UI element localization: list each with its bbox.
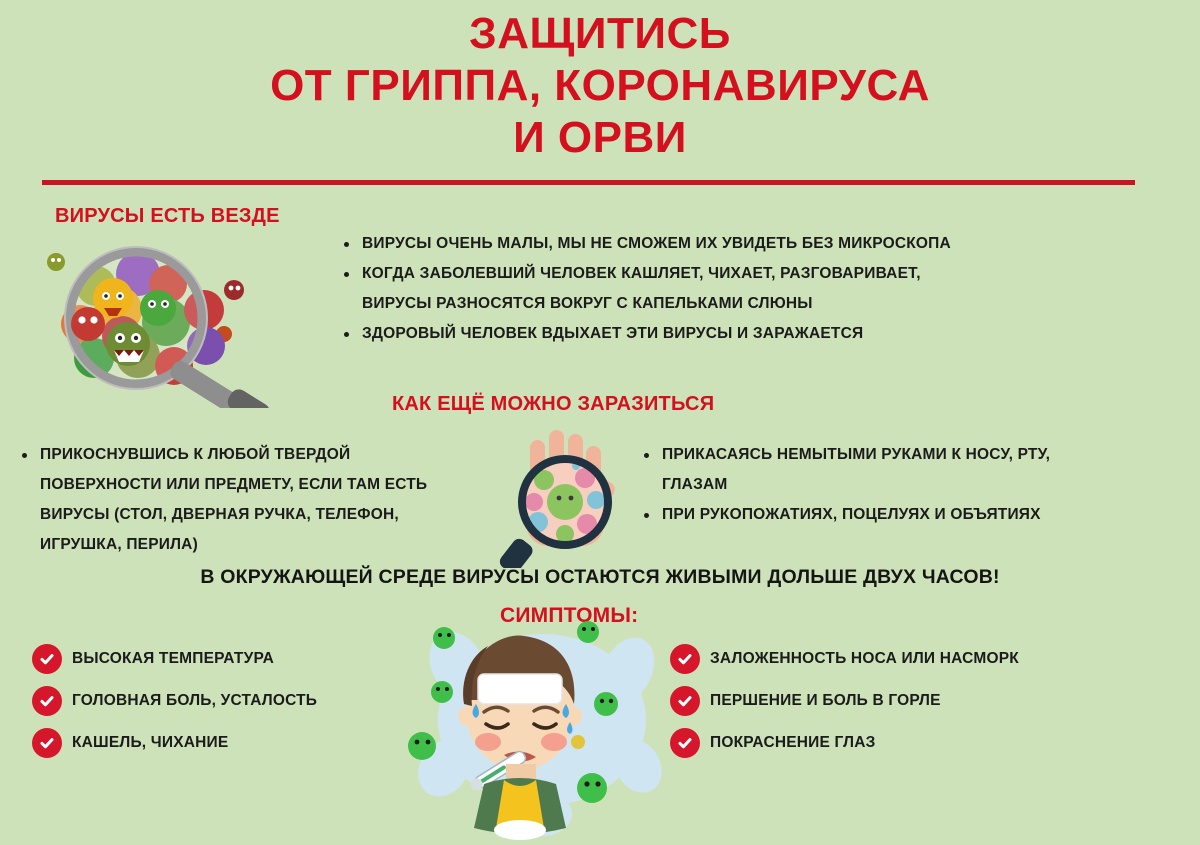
title-line-2: ОТ ГРИППА, КОРОНАВИРУСА [0, 60, 1200, 112]
list-item: ПРИКАСАЯСЬ НЕМЫТЫМИ РУКАМИ К НОСУ, РТУ, … [640, 440, 1110, 500]
list-item: КОГДА ЗАБОЛЕВШИЙ ЧЕЛОВЕК КАШЛЯЕТ, ЧИХАЕТ… [340, 259, 1040, 319]
bullet-text-line: ВИРУСЫ (СТОЛ, ДВЕРНАЯ РУЧКА, ТЕЛЕФОН, [40, 500, 468, 530]
check-icon [670, 686, 700, 716]
list-item: ПОКРАСНЕНИЕ ГЛАЗ [670, 722, 1019, 764]
list-item: КАШЕЛЬ, ЧИХАНИЕ [32, 722, 317, 764]
warning-text: В ОКРУЖАЮЩЕЙ СРЕДЕ ВИРУСЫ ОСТАЮТСЯ ЖИВЫМ… [0, 566, 1200, 589]
list-item: ПРИКОСНУВШИСЬ К ЛЮБОЙ ТВЕРДОЙ ПОВЕРХНОСТ… [18, 440, 468, 560]
title-divider [42, 180, 1135, 185]
bullet-text-line: ВИРУСЫ ОЧЕНЬ МАЛЫ, МЫ НЕ СМОЖЕМ ИХ УВИДЕ… [362, 235, 951, 252]
check-icon [32, 686, 62, 716]
list-item: ЗАЛОЖЕННОСТЬ НОСА ИЛИ НАСМОРК [670, 638, 1019, 680]
symptom-label: ПОКРАСНЕНИЕ ГЛАЗ [710, 734, 876, 752]
bullet-text-line: ВИРУСЫ РАЗНОСЯТСЯ ВОКРУГ С КАПЕЛЬКАМИ СЛ… [362, 289, 1040, 319]
symptom-label: КАШЕЛЬ, ЧИХАНИЕ [72, 734, 228, 752]
bullet-list-touch-surfaces: ПРИКОСНУВШИСЬ К ЛЮБОЙ ТВЕРДОЙ ПОВЕРХНОСТ… [18, 440, 468, 560]
bullet-text-line: ПОВЕРХНОСТИ ИЛИ ПРЕДМЕТУ, ЕСЛИ ТАМ ЕСТЬ [40, 470, 468, 500]
symptom-label: ГОЛОВНАЯ БОЛЬ, УСТАЛОСТЬ [72, 692, 317, 710]
bullet-text-line: ПРИКАСАЯСЬ НЕМЫТЫМИ РУКАМИ К НОСУ, РТУ, [662, 446, 1050, 463]
list-item: ПРИ РУКОПОЖАТИЯХ, ПОЦЕЛУЯХ И ОБЪЯТИЯХ [640, 500, 1110, 530]
check-icon [670, 728, 700, 758]
list-item: ВИРУСЫ ОЧЕНЬ МАЛЫ, МЫ НЕ СМОЖЕМ ИХ УВИДЕ… [340, 229, 1040, 259]
bullet-text-line: ПРИКОСНУВШИСЬ К ЛЮБОЙ ТВЕРДОЙ [40, 446, 350, 463]
bullet-text-line: ПРИ РУКОПОЖАТИЯХ, ПОЦЕЛУЯХ И ОБЪЯТИЯХ [662, 506, 1041, 523]
symptom-list-right: ЗАЛОЖЕННОСТЬ НОСА ИЛИ НАСМОРК ПЕРШЕНИЕ И… [670, 638, 1019, 764]
symptom-label: ВЫСОКАЯ ТЕМПЕРАТУРА [72, 650, 274, 668]
hand-magnifier-illustration [480, 418, 650, 573]
bullet-text-line: ИГРУШКА, ПЕРИЛА) [40, 530, 468, 560]
list-item: ГОЛОВНАЯ БОЛЬ, УСТАЛОСТЬ [32, 680, 317, 722]
check-icon [32, 728, 62, 758]
germs-magnifier-illustration [18, 238, 338, 413]
check-icon [32, 644, 62, 674]
bullet-list-viruses-everywhere: ВИРУСЫ ОЧЕНЬ МАЛЫ, МЫ НЕ СМОЖЕМ ИХ УВИДЕ… [340, 229, 1040, 349]
sick-boy-illustration [392, 600, 692, 845]
bullet-list-unwashed-hands: ПРИКАСАЯСЬ НЕМЫТЫМИ РУКАМИ К НОСУ, РТУ, … [640, 440, 1110, 530]
list-item: ВЫСОКАЯ ТЕМПЕРАТУРА [32, 638, 317, 680]
symptom-label: ЗАЛОЖЕННОСТЬ НОСА ИЛИ НАСМОРК [710, 650, 1019, 668]
poster-root: ЗАЩИТИСЬ ОТ ГРИППА, КОРОНАВИРУСА И ОРВИ … [0, 0, 1200, 842]
list-item: ПЕРШЕНИЕ И БОЛЬ В ГОРЛЕ [670, 680, 1019, 722]
title-line-3: И ОРВИ [0, 112, 1200, 164]
check-icon [670, 644, 700, 674]
poster-title: ЗАЩИТИСЬ ОТ ГРИППА, КОРОНАВИРУСА И ОРВИ [0, 8, 1200, 164]
symptom-label: ПЕРШЕНИЕ И БОЛЬ В ГОРЛЕ [710, 692, 941, 710]
list-item: ЗДОРОВЫЙ ЧЕЛОВЕК ВДЫХАЕТ ЭТИ ВИРУСЫ И ЗА… [340, 319, 1040, 349]
title-line-1: ЗАЩИТИСЬ [0, 8, 1200, 60]
symptom-list-left: ВЫСОКАЯ ТЕМПЕРАТУРА ГОЛОВНАЯ БОЛЬ, УСТАЛ… [32, 638, 317, 764]
bullet-text-line: ЗДОРОВЫЙ ЧЕЛОВЕК ВДЫХАЕТ ЭТИ ВИРУСЫ И ЗА… [362, 325, 863, 342]
section-heading-how-else-infected: КАК ЕЩЁ МОЖНО ЗАРАЗИТЬСЯ [392, 393, 714, 416]
bullet-text-line: КОГДА ЗАБОЛЕВШИЙ ЧЕЛОВЕК КАШЛЯЕТ, ЧИХАЕТ… [362, 265, 921, 282]
bullet-text-line: ГЛАЗАМ [662, 470, 1110, 500]
section-heading-viruses-everywhere: ВИРУСЫ ЕСТЬ ВЕЗДЕ [55, 205, 280, 228]
